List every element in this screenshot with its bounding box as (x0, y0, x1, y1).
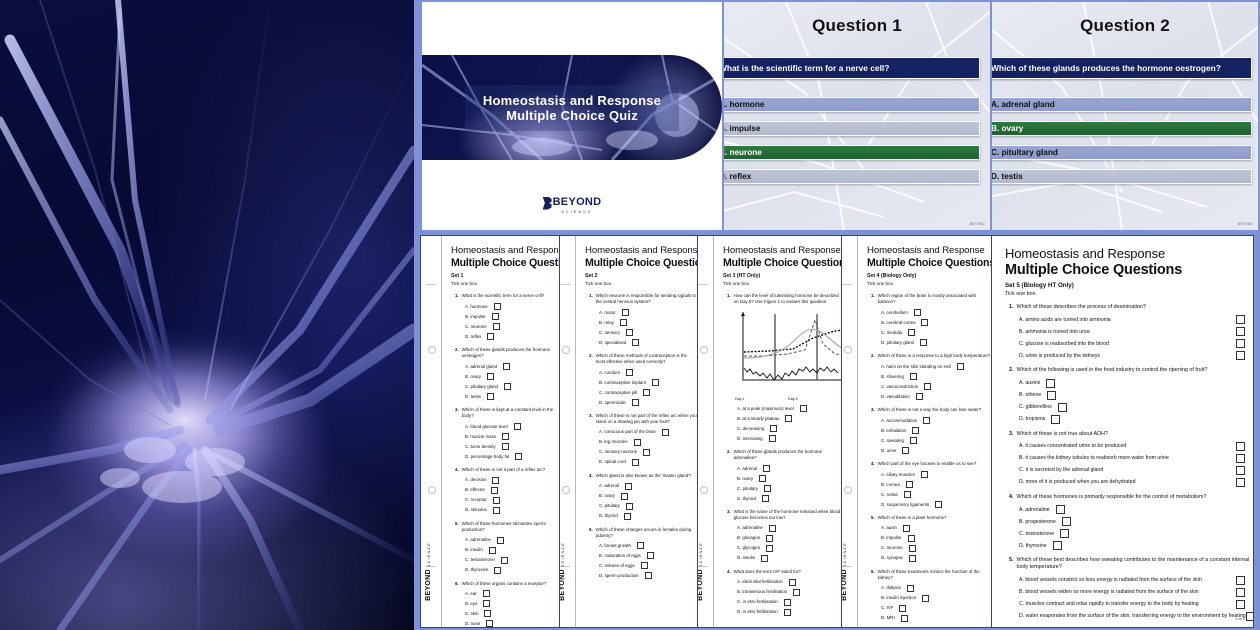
answer-checkbox[interactable] (1056, 505, 1065, 514)
worksheet-sheet-3[interactable]: BEYOND SCIENCE Homeostasis and Response … (692, 235, 842, 628)
question-2-stem: Which of these glands produces the hormo… (992, 57, 1252, 79)
worksheet-sheet-1[interactable]: BEYOND SCIENCE Homeostasis and Response … (420, 235, 560, 628)
option-row[interactable]: B. insulin (451, 547, 559, 554)
answer-checkbox[interactable] (785, 415, 792, 422)
answer-checkbox[interactable] (637, 542, 644, 549)
question-item: 5.Which of these hormones stimulates spe… (451, 521, 559, 574)
option-row[interactable]: D. specialised (585, 339, 697, 346)
option-label: D. increasing (737, 436, 763, 441)
option-row[interactable]: C. pituitary gland (451, 383, 559, 390)
question-text: 3.Which of these is kept at a constant l… (451, 407, 559, 419)
option-row[interactable]: B. ovary (585, 493, 697, 500)
option-row[interactable]: B. relay (585, 319, 697, 326)
option-row[interactable]: B. impulse (451, 313, 559, 320)
answer-checkbox[interactable] (634, 439, 641, 446)
figure-x-tick: Day 1 (735, 397, 744, 401)
answer-checkbox[interactable] (515, 453, 522, 460)
option-row[interactable]: B. blood vessels widen so more energy is… (1005, 588, 1253, 597)
answer-checkbox[interactable] (492, 477, 499, 484)
option-row[interactable]: A. accommodation (867, 417, 991, 424)
option-row[interactable]: C. neurone (867, 545, 991, 552)
option-row[interactable]: B. eye (451, 600, 559, 607)
answer-checkbox[interactable] (921, 471, 928, 478)
option-row[interactable]: D. reflex (451, 333, 559, 340)
answer-checkbox[interactable] (624, 513, 631, 520)
binder-tick (426, 284, 436, 285)
sheet-content: Homeostasis and Response Multiple Choice… (859, 236, 991, 627)
answer-checkbox[interactable] (766, 535, 773, 542)
answer-checkbox[interactable] (907, 585, 914, 592)
answer-checkbox[interactable] (901, 615, 908, 622)
side-logo-word: BEYOND (697, 569, 704, 601)
side-logo-word: BEYOND (841, 569, 848, 601)
option-row[interactable]: A. ideal vital fertilisation (723, 579, 841, 586)
answer-checkbox[interactable] (483, 590, 490, 597)
answer-checkbox[interactable] (909, 545, 916, 552)
option-row[interactable]: C. it is secreted by the adrenal gland (1005, 466, 1253, 475)
option-label: A. conscious part of the brain (599, 429, 656, 434)
option-row[interactable]: B. ammonia is turned into urea (1005, 327, 1253, 336)
option-row[interactable]: C. IVF (867, 605, 991, 612)
question-2-option-c[interactable]: C. pituitary gland (992, 145, 1252, 160)
option-row[interactable]: C. release of eggs (585, 562, 697, 569)
option-list: A. at a peak (maximum) levelB. at a stea… (723, 405, 841, 442)
option-row[interactable]: A. auxins (1005, 379, 1253, 388)
option-label: C. skin (465, 611, 478, 616)
answer-checkbox[interactable] (920, 339, 927, 346)
question-number: 3. (589, 413, 593, 425)
answer-checkbox[interactable] (502, 443, 509, 450)
answer-checkbox[interactable] (1053, 541, 1062, 550)
option-row[interactable]: D. nose (451, 620, 559, 627)
option-row[interactable]: C. receptor (451, 497, 559, 504)
title-line-1: Homeostasis and Response (483, 93, 661, 108)
title-slide[interactable]: Homeostasis and Response Multiple Choice… (422, 2, 722, 230)
answer-checkbox[interactable] (492, 313, 499, 320)
answer-checkbox[interactable] (1060, 529, 1069, 538)
option-row[interactable]: B. ovary (451, 373, 559, 380)
question-number: 5. (455, 521, 459, 533)
answer-checkbox[interactable] (662, 429, 669, 436)
question-item: 1.What is the scientific term for a nerv… (451, 293, 559, 340)
option-row[interactable]: B. leg muscles (585, 439, 697, 446)
question-1-option-c[interactable]: C. neurone (724, 145, 980, 160)
answer-checkbox[interactable] (504, 383, 511, 390)
option-row[interactable]: C. bone density (451, 443, 559, 450)
option-row[interactable]: C. pituitary (723, 485, 841, 492)
answer-checkbox[interactable] (908, 329, 915, 336)
answer-checkbox[interactable] (1058, 403, 1067, 412)
answer-checkbox[interactable] (957, 363, 964, 370)
option-label: D. more of it is produced when you are d… (1019, 479, 1136, 485)
answer-checkbox[interactable] (762, 495, 769, 502)
option-label: C. pituitary (737, 486, 758, 491)
answer-checkbox[interactable] (759, 475, 766, 482)
answer-checkbox[interactable] (622, 309, 629, 316)
answer-checkbox[interactable] (800, 405, 807, 412)
answer-checkbox[interactable] (914, 309, 921, 316)
option-row[interactable]: D. thyroxine (1005, 541, 1253, 550)
answer-checkbox[interactable] (763, 465, 770, 472)
answer-checkbox[interactable] (1236, 576, 1245, 585)
answer-checkbox[interactable] (483, 600, 490, 607)
answer-checkbox[interactable] (921, 319, 928, 326)
answer-checkbox[interactable] (491, 487, 498, 494)
answer-checkbox[interactable] (620, 319, 627, 326)
answer-checkbox[interactable] (494, 303, 501, 310)
option-row[interactable]: D. stimulus (451, 507, 559, 514)
answer-checkbox[interactable] (1236, 600, 1245, 609)
questions-container: 1.Which neurone is responsible for sendi… (585, 293, 697, 579)
worksheet-sheet-2[interactable]: BEYOND SCIENCE Homeostasis and Response … (554, 235, 698, 628)
question-2-heading: Question 2 (992, 16, 1258, 36)
option-row[interactable]: C. sweating (867, 437, 991, 444)
answer-checkbox[interactable] (502, 433, 509, 440)
sheet-title-line-1: Homeostasis and Response (1005, 246, 1253, 261)
answer-checkbox[interactable] (761, 555, 768, 562)
option-label: B. impulse (881, 535, 902, 540)
option-row[interactable]: B. progesterone (1005, 517, 1253, 526)
option-row[interactable]: C. skin (451, 610, 559, 617)
option-row[interactable]: A. adrenal (585, 483, 697, 490)
option-row[interactable]: B. intravenous fertilisation (723, 589, 841, 596)
option-row[interactable]: D. in vitro fertilisation (723, 609, 841, 616)
answer-checkbox[interactable] (904, 491, 911, 498)
option-row[interactable]: A. adrenaline (1005, 505, 1253, 514)
option-row[interactable]: A. hormone (451, 303, 559, 310)
answer-checkbox[interactable] (1236, 466, 1245, 475)
question-text: 1.How can the level of luteinising hormo… (723, 293, 841, 305)
option-label: C. neurone (881, 545, 903, 550)
answer-checkbox[interactable] (514, 423, 521, 430)
question-stem: What is the name of the hormone released… (734, 509, 841, 521)
option-row[interactable]: B. glucagon (723, 535, 841, 542)
answer-checkbox[interactable] (643, 449, 650, 456)
answer-checkbox[interactable] (632, 339, 639, 346)
option-row[interactable]: B. maturation of eggs (585, 552, 697, 559)
question-stem: Which of these is not true about ADH? (1017, 431, 1108, 438)
question-2-option-a[interactable]: A. adrenal gland (992, 97, 1252, 112)
question-text: 2.Which of these glands produces the hor… (723, 449, 841, 461)
answer-checkbox[interactable] (626, 503, 633, 510)
option-label: A. auxins (1019, 380, 1040, 386)
question-1-option-d[interactable]: D. reflex (724, 169, 980, 184)
option-label: D. thyroxine (465, 567, 488, 572)
option-label: A. ciliary muscles (881, 472, 915, 477)
punch-hole (844, 486, 852, 494)
question-1-option-a[interactable]: A. hormone (724, 97, 980, 112)
answer-checkbox[interactable] (487, 333, 494, 340)
option-row[interactable]: A. motor (585, 309, 697, 316)
question-stem: How can the level of luteinising hormone… (734, 293, 841, 305)
option-row[interactable]: D. urine is produced by the kidneys (1005, 351, 1253, 360)
option-list: A. auxinB. impulseC. neuroneD. synapse (867, 525, 991, 562)
option-row[interactable]: A. ear (451, 590, 559, 597)
worksheet-sheet-5[interactable]: Homeostasis and Response Multiple Choice… (986, 235, 1254, 628)
question-text: 4.Which of these hormones is primarily r… (1005, 494, 1253, 501)
answer-checkbox[interactable] (789, 579, 796, 586)
question-1-option-b[interactable]: B. impulse (724, 121, 980, 136)
answer-checkbox[interactable] (652, 379, 659, 386)
option-label: B. leg muscles (599, 439, 628, 444)
question-number: 5. (589, 527, 593, 539)
question-item: 6.Which of these organs contains a recep… (451, 581, 559, 628)
questions-container: 1.What is the scientific term for a nerv… (451, 293, 559, 627)
sheet-set-label: Set 2 (585, 273, 697, 279)
option-row[interactable]: C. pituitary (585, 503, 697, 510)
option-row[interactable]: B. impulse (867, 535, 991, 542)
option-row[interactable]: D. testis (451, 393, 559, 400)
option-label: A. breast growth (599, 543, 631, 548)
question-item: 2.Which of the following is used in the … (1005, 367, 1253, 423)
answer-checkbox[interactable] (641, 562, 648, 569)
option-row[interactable]: D. MRI (867, 615, 991, 622)
answer-checkbox[interactable] (769, 435, 776, 442)
answer-checkbox[interactable] (645, 572, 652, 579)
option-row[interactable]: D. thyroxine (451, 567, 559, 574)
answer-checkbox[interactable] (632, 459, 639, 466)
option-row[interactable]: A. blood glucose level (451, 423, 559, 430)
option-row[interactable]: C. neurone (451, 323, 559, 330)
answer-checkbox[interactable] (784, 609, 791, 616)
sheet-title-line-2: Multiple Choice Questions (867, 257, 991, 269)
answer-checkbox[interactable] (764, 485, 771, 492)
answer-checkbox[interactable] (912, 427, 919, 434)
option-row[interactable]: B. cornea (867, 481, 991, 488)
question-number: 4. (727, 569, 731, 575)
option-row[interactable]: A. decision (451, 477, 559, 484)
option-row[interactable]: A. adrenal gland (451, 363, 559, 370)
answer-checkbox[interactable] (497, 537, 504, 544)
question-stem: Which of these methods of contraception … (596, 353, 697, 365)
answer-checkbox[interactable] (1236, 442, 1245, 451)
option-row[interactable]: B. ovary (723, 475, 841, 482)
option-row[interactable]: A. condom (585, 369, 697, 376)
option-row[interactable]: D. synapse (867, 555, 991, 562)
answer-checkbox[interactable] (903, 525, 910, 532)
answer-checkbox[interactable] (769, 525, 776, 532)
option-row[interactable]: A. adrenaline (723, 525, 841, 532)
option-row[interactable]: C. sensory neurone (585, 449, 697, 456)
option-row[interactable]: A. conscious part of the brain (585, 429, 697, 436)
answer-checkbox[interactable] (935, 501, 942, 508)
option-row[interactable]: B. ethene (1005, 391, 1253, 400)
option-row[interactable]: B. muscle mass (451, 433, 559, 440)
answer-checkbox[interactable] (487, 393, 494, 400)
option-row[interactable]: D. tropisms (1005, 415, 1253, 424)
answer-checkbox[interactable] (1047, 391, 1056, 400)
option-list: A. adrenalineB. glucagonC. glycogenD. in… (723, 525, 841, 562)
option-row[interactable]: D. thyroid (585, 513, 697, 520)
answer-checkbox[interactable] (924, 383, 931, 390)
option-row[interactable]: D. percentage body fat (451, 453, 559, 460)
option-row[interactable]: D. spinal cord (585, 459, 697, 466)
option-row[interactable]: B. it causes the kidney tubules to reabs… (1005, 454, 1253, 463)
option-row[interactable]: C. muscles contract and relax rapidly to… (1005, 600, 1253, 609)
option-row[interactable]: A. adrenaline (451, 537, 559, 544)
answer-checkbox[interactable] (626, 369, 633, 376)
option-row[interactable]: D. vasodilation (867, 393, 991, 400)
option-label: C. medulla (881, 330, 902, 335)
answer-checkbox[interactable] (1046, 379, 1055, 388)
answer-checkbox[interactable] (908, 535, 915, 542)
option-row[interactable]: D. more of it is produced when you are d… (1005, 478, 1253, 487)
option-row[interactable]: B. exhalation (867, 427, 991, 434)
answer-checkbox[interactable] (793, 589, 800, 596)
answer-checkbox[interactable] (910, 437, 917, 444)
option-row[interactable]: A. hairs on the skin standing on end (867, 363, 991, 370)
answer-checkbox[interactable] (1236, 588, 1245, 597)
answer-checkbox[interactable] (916, 393, 923, 400)
option-row[interactable]: A. it causes concentrated urine to be pr… (1005, 442, 1253, 451)
option-row[interactable]: C. decreasing (723, 425, 841, 432)
option-row[interactable]: B. effector (451, 487, 559, 494)
question-number: 6. (871, 569, 875, 581)
option-list: A. adrenal glandB. ovaryC. pituitary gla… (451, 363, 559, 400)
option-row[interactable]: A. ciliary muscles (867, 471, 991, 478)
question-stem: Which of these is a plant hormone? (878, 515, 947, 521)
answer-checkbox[interactable] (1246, 612, 1254, 621)
option-row[interactable]: A. breast growth (585, 542, 697, 549)
option-row[interactable]: D. insulin (723, 555, 841, 562)
option-row[interactable]: D. thyroid (723, 495, 841, 502)
option-list: A. blood glucose levelB. muscle massC. b… (451, 423, 559, 460)
option-list: A. accommodationB. exhalationC. sweating… (867, 417, 991, 454)
answer-checkbox[interactable] (493, 497, 500, 504)
option-row[interactable]: D. urine (867, 447, 991, 454)
beyond-logo: BEYOND SCIENCE (422, 192, 722, 215)
answer-checkbox[interactable] (625, 483, 632, 490)
question-slide-1[interactable]: Question 1 What is the scientific term f… (724, 2, 990, 230)
answer-checkbox[interactable] (922, 595, 929, 602)
option-row[interactable]: B. at a steady plateau (723, 415, 841, 422)
option-row[interactable]: C. glucose is reabsorbed into the blood (1005, 339, 1253, 348)
sheet-side-logo: BEYOND SCIENCE (841, 542, 848, 601)
option-row[interactable]: C. medulla (867, 329, 991, 336)
option-row[interactable]: C. retina (867, 491, 991, 498)
punch-hole (562, 486, 570, 494)
answer-checkbox[interactable] (501, 557, 508, 564)
answer-checkbox[interactable] (1236, 339, 1245, 348)
answer-checkbox[interactable] (1236, 315, 1245, 324)
option-row[interactable]: A. cerebellum (867, 309, 991, 316)
worksheet-sheet-4[interactable]: BEYOND SCIENCE Homeostasis and Response … (836, 235, 992, 628)
answer-checkbox[interactable] (1051, 415, 1060, 424)
answer-checkbox[interactable] (906, 481, 913, 488)
question-item: 1.Which region of the brain is mostly as… (867, 293, 991, 346)
questions-container: 1.Which region of the brain is mostly as… (867, 293, 991, 622)
option-row[interactable]: B. cerebral cortex (867, 319, 991, 326)
answer-checkbox[interactable] (486, 620, 493, 627)
option-row[interactable]: D. water evaporates from the surface of … (1005, 612, 1253, 621)
punch-hole (700, 346, 708, 354)
option-row[interactable]: B. shivering (867, 373, 991, 380)
option-list: A. ciliary musclesB. corneaC. retinaD. s… (867, 471, 991, 508)
answer-checkbox[interactable] (1236, 327, 1245, 336)
option-row[interactable]: D. suspensory ligaments (867, 501, 991, 508)
side-logo-sub: SCIENCE (699, 542, 703, 567)
option-row[interactable]: A. adrenal (723, 465, 841, 472)
answer-checkbox[interactable] (899, 605, 906, 612)
option-label: D. urine is produced by the kidneys (1019, 353, 1100, 359)
answer-checkbox[interactable] (626, 329, 633, 336)
option-list: A. blood vessels constrict so less energ… (1005, 576, 1253, 621)
sheet-content: Homeostasis and Response Multiple Choice… (577, 236, 697, 627)
option-row[interactable]: C. testosterone (451, 557, 559, 564)
sheet-set-label: Set 4 (Biology Only) (867, 273, 991, 279)
option-row[interactable]: B. insulin injection (867, 595, 991, 602)
question-item: 2.Which of these methods of contraceptio… (585, 353, 697, 406)
option-list: A. it causes concentrated urine to be pr… (1005, 442, 1253, 487)
title-text-box: Homeostasis and Response Multiple Choice… (465, 85, 679, 131)
option-row[interactable]: C. sensory (585, 329, 697, 336)
hormone-cycle-figure (735, 310, 842, 394)
option-label: B. relay (599, 320, 614, 325)
answer-checkbox[interactable] (909, 555, 916, 562)
option-label: C. muscles contract and relax rapidly to… (1019, 601, 1199, 607)
question-2-option-b[interactable]: B. ovary (992, 121, 1252, 136)
question-stem: Which of these is not a way the body can… (878, 407, 981, 413)
option-row[interactable]: C. in vitro fertilisation (723, 599, 841, 606)
answer-checkbox[interactable] (484, 610, 491, 617)
option-row[interactable]: D. pituitary gland (867, 339, 991, 346)
option-row[interactable]: A. at a peak (maximum) level (723, 405, 841, 412)
answer-checkbox[interactable] (1236, 478, 1245, 487)
option-row[interactable]: A. amino acids are turned into ammonia (1005, 315, 1253, 324)
question-number: 2. (1009, 367, 1014, 374)
option-row[interactable]: A. auxin (867, 525, 991, 532)
answer-checkbox[interactable] (632, 399, 639, 406)
question-slide-2[interactable]: Question 2 Which of these glands produce… (992, 2, 1258, 230)
answer-checkbox[interactable] (923, 417, 930, 424)
option-row[interactable]: B. contraceptive implant (585, 379, 697, 386)
answer-checkbox[interactable] (1236, 351, 1245, 360)
option-row[interactable]: D. spermicide (585, 399, 697, 406)
answer-checkbox[interactable] (503, 363, 510, 370)
answer-checkbox[interactable] (766, 545, 773, 552)
option-row[interactable]: D. increasing (723, 435, 841, 442)
answer-checkbox[interactable] (493, 323, 500, 330)
option-label: A. hormone (465, 304, 488, 309)
option-row[interactable]: C. glycogen (723, 545, 841, 552)
answer-checkbox[interactable] (621, 493, 628, 500)
answer-checkbox[interactable] (647, 552, 654, 559)
answer-checkbox[interactable] (487, 373, 494, 380)
option-row[interactable]: D. sperm production (585, 572, 697, 579)
punch-hole (562, 346, 570, 354)
answer-checkbox[interactable] (1236, 454, 1245, 463)
answer-checkbox[interactable] (910, 373, 917, 380)
answer-checkbox[interactable] (1062, 517, 1071, 526)
question-text: 2.Which of these is a response to a high… (867, 353, 991, 359)
answer-checkbox[interactable] (643, 389, 650, 396)
option-row[interactable]: C. gibberellins (1005, 403, 1253, 412)
option-row[interactable]: A. blood vessels constrict so less energ… (1005, 576, 1253, 585)
answer-checkbox[interactable] (784, 599, 791, 606)
question-item: 3.Which of these is kept at a constant l… (451, 407, 559, 460)
option-row[interactable]: A. dialysis (867, 585, 991, 592)
option-row[interactable]: C. testosterone (1005, 529, 1253, 538)
answer-checkbox[interactable] (770, 425, 777, 432)
option-row[interactable]: C. vasoconstriction (867, 383, 991, 390)
option-row[interactable]: C. contraceptive pill (585, 389, 697, 396)
answer-checkbox[interactable] (493, 507, 500, 514)
answer-checkbox[interactable] (902, 447, 909, 454)
question-2-option-d[interactable]: D. testis (992, 169, 1252, 184)
question-stem: Which of these hormones stimulates sperm… (462, 521, 559, 533)
answer-checkbox[interactable] (494, 567, 501, 574)
answer-checkbox[interactable] (489, 547, 496, 554)
